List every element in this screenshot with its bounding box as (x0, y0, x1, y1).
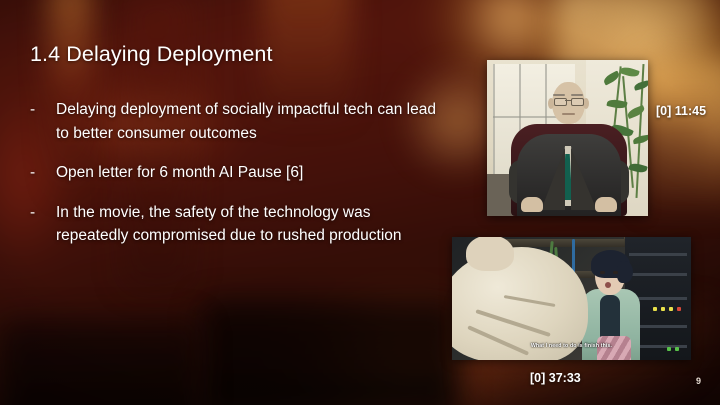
bullet-marker-icon: - (30, 98, 56, 122)
scene-artwork: What I need to do is finish this. (452, 237, 691, 360)
bullet-marker-icon: - (30, 161, 56, 185)
page-number: 9 (696, 376, 701, 386)
woman-inner-top (600, 295, 620, 339)
scene-artwork (487, 60, 648, 216)
page-title: 1.4 Delaying Deployment (30, 42, 273, 67)
woman-mouth (605, 282, 611, 288)
man-head-back (466, 237, 514, 271)
bullet-text: Open letter for 6 month AI Pause [6] (56, 161, 303, 185)
bullet-text: Delaying deployment of socially impactfu… (56, 98, 442, 145)
bullet-marker-icon: - (30, 201, 56, 225)
rack-indicator-led (653, 307, 657, 311)
hand-right (595, 197, 617, 212)
list-item: - Open letter for 6 month AI Pause [6] (30, 161, 442, 185)
rack-indicator-led (669, 307, 673, 311)
rack-indicator-led (677, 307, 681, 311)
woman-eye-right (613, 271, 618, 274)
presentation-slide: 1.4 Delaying Deployment - Delaying deplo… (0, 0, 720, 405)
woman-eye-left (600, 271, 605, 274)
subtitle-band: What I need to do is finish this. (452, 334, 691, 352)
woman-hair-bun (617, 261, 633, 283)
eyebrow-right (571, 94, 583, 96)
hand-left (521, 197, 543, 212)
workshop-scene-still: What I need to do is finish this. (452, 237, 691, 360)
rack-shelf-line (629, 273, 687, 276)
office-chairman-still (487, 60, 648, 216)
office-still-timestamp-caption: [0] 11:45 (656, 104, 706, 118)
subtitle-text: What I need to do is finish this. (531, 343, 612, 349)
mouth (562, 113, 575, 115)
list-item: - Delaying deployment of socially impact… (30, 98, 442, 145)
window-frame-line (493, 64, 495, 176)
bullet-text: In the movie, the safety of the technolo… (56, 201, 442, 248)
eyeglass-bridge (565, 100, 571, 101)
bullet-list: - Delaying deployment of socially impact… (30, 98, 442, 264)
workshop-shelf (504, 239, 624, 247)
eyeglass-lens-right (571, 98, 584, 106)
rack-shelf-line (629, 253, 687, 256)
workshop-still-timestamp-caption: [0] 37:33 (530, 371, 581, 385)
rack-indicator-led (661, 307, 665, 311)
list-item: - In the movie, the safety of the techno… (30, 201, 442, 248)
eyebrow-left (553, 94, 565, 96)
